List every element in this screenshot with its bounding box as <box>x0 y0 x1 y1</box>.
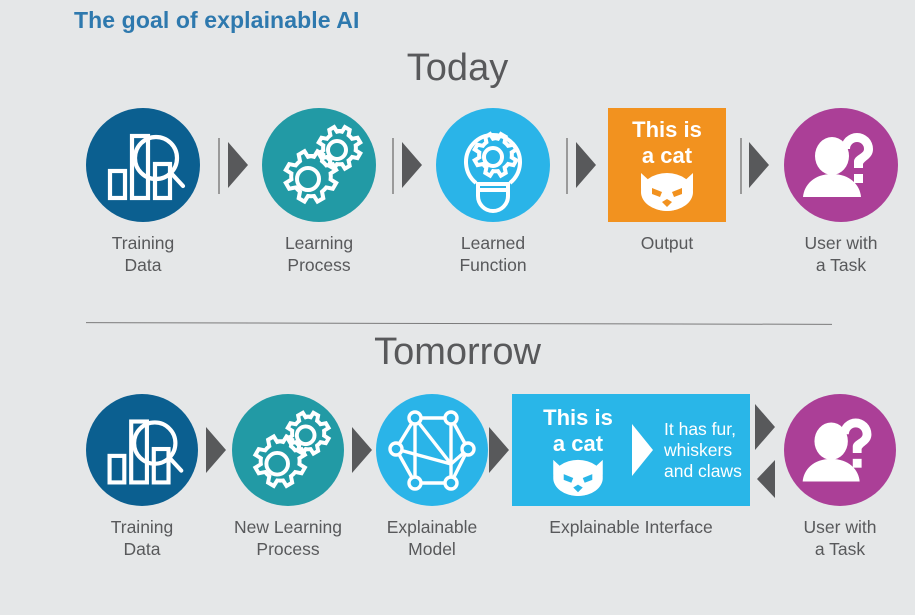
arrow-right-1-tomorrow <box>206 427 226 473</box>
pipeline-row-today: Training Data Learning Process <box>0 108 915 298</box>
output-caption: This is a cat <box>608 108 726 168</box>
node-label: Explainable Model <box>376 517 488 560</box>
arrow-divider-tick <box>566 138 568 194</box>
node-explainable-model-tomorrow[interactable]: Explainable Model <box>376 394 488 560</box>
gears-icon <box>262 108 376 222</box>
arrow-divider-tick <box>392 138 394 194</box>
node-learning-process-today[interactable]: Learning Process <box>261 108 377 276</box>
section-heading-today: Today <box>0 47 915 90</box>
node-new-learning-process-tomorrow[interactable]: New Learning Process <box>232 394 344 560</box>
node-training-data-tomorrow[interactable]: Training Data <box>86 394 198 560</box>
arrow-right-3-tomorrow <box>489 427 509 473</box>
node-label: Learned Function <box>435 233 551 276</box>
arrow-divider-tick <box>218 138 220 194</box>
node-user-task-tomorrow[interactable]: User with a Task <box>784 394 896 560</box>
section-heading-tomorrow: Tomorrow <box>0 331 915 374</box>
node-training-data-today[interactable]: Training Data <box>85 108 201 276</box>
arrow-right-explanation <box>632 424 653 476</box>
training-data-icon <box>86 108 200 222</box>
gears-icon <box>232 394 344 506</box>
arrow-right-4-today <box>749 142 769 188</box>
node-label: New Learning Process <box>232 517 344 560</box>
node-label: User with a Task <box>783 233 899 276</box>
user-question-icon <box>784 108 898 222</box>
arrow-right-3-today <box>576 142 596 188</box>
node-label: Learning Process <box>261 233 377 276</box>
node-label: Output <box>607 233 727 255</box>
network-graph-icon <box>376 394 488 506</box>
arrow-right-2-tomorrow <box>352 427 372 473</box>
arrow-left-feedback-tomorrow <box>757 460 775 498</box>
cat-face-icon <box>635 170 699 212</box>
interface-prediction-block: This is a cat <box>512 403 632 497</box>
arrow-right-2-today <box>402 142 422 188</box>
user-question-icon <box>784 394 896 506</box>
arrow-divider-tick <box>740 138 742 194</box>
page-title: The goal of explainable AI <box>74 7 359 34</box>
node-label: User with a Task <box>784 517 896 560</box>
pipeline-row-tomorrow: Training Data New Learning Process <box>0 394 915 584</box>
node-user-task-today[interactable]: User with a Task <box>783 108 899 276</box>
node-output-today[interactable]: This is a cat Output <box>607 108 727 255</box>
node-label: Training Data <box>85 233 201 276</box>
explainable-interface-panel: This is a cat It has fur, whiskers and c… <box>512 394 750 506</box>
node-label: Explainable Interface <box>511 517 751 539</box>
explanation-text: It has fur, whiskers and claws <box>653 419 742 482</box>
cat-face-icon <box>547 457 609 497</box>
section-divider <box>86 322 832 325</box>
training-data-icon <box>86 394 198 506</box>
node-explainable-interface-tomorrow[interactable]: This is a cat It has fur, whiskers and c… <box>511 394 751 539</box>
node-label: Training Data <box>86 517 198 560</box>
arrow-right-4-tomorrow <box>755 404 775 450</box>
lightbulb-gear-icon <box>436 108 550 222</box>
arrow-right-1-today <box>228 142 248 188</box>
interface-caption: This is a cat <box>524 403 632 456</box>
node-learned-function-today[interactable]: Learned Function <box>435 108 551 276</box>
output-card: This is a cat <box>608 108 726 222</box>
